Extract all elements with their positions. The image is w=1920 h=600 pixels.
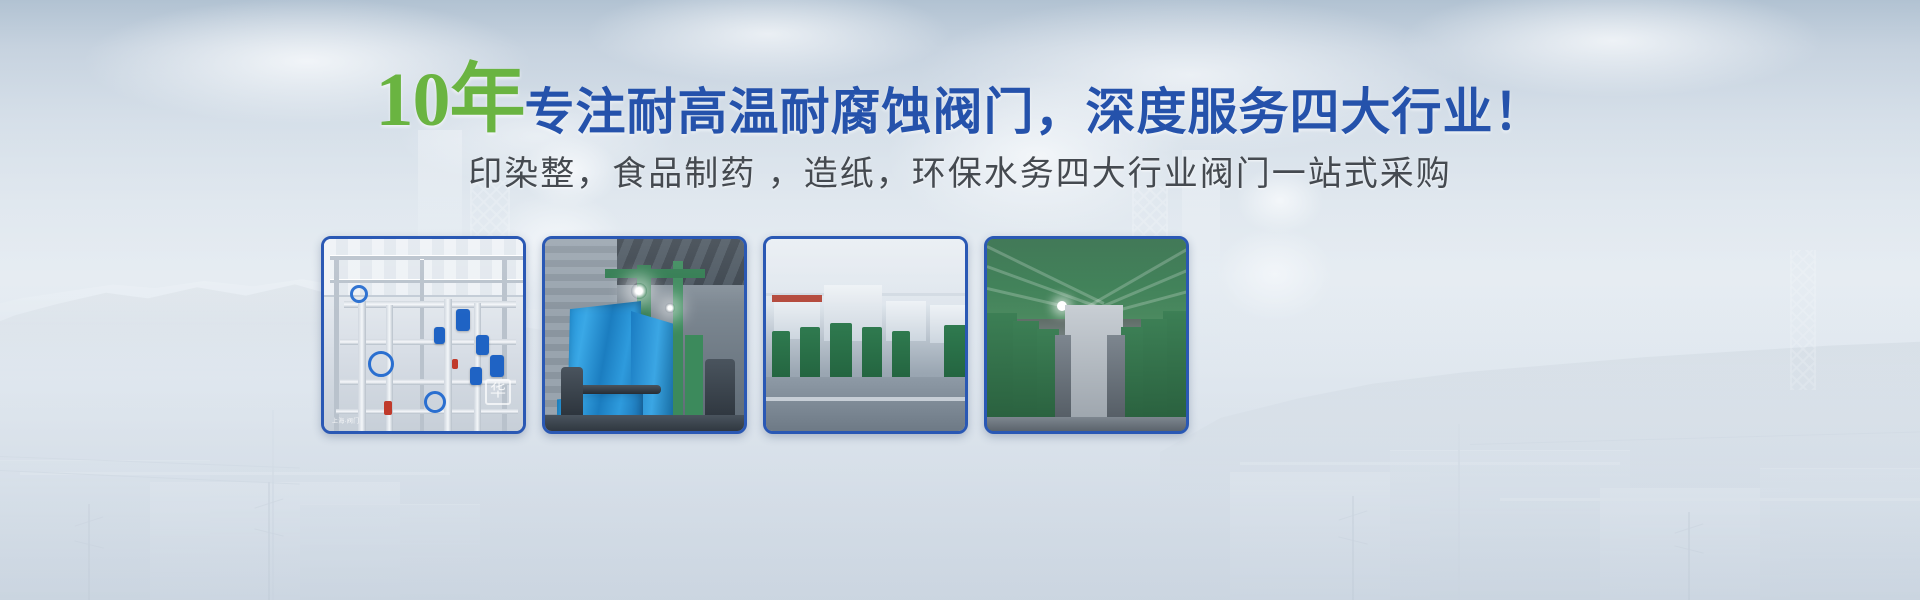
photo-watermark-text: 上海·阀门	[332, 416, 360, 425]
photo-strip: 华 上海·阀门	[321, 236, 1189, 434]
hero-banner: 10年专注耐高温耐腐蚀阀门，深度服务四大行业！ 印染整，食品制药 ，造纸，环保水…	[0, 0, 1920, 600]
photo-thumbnail-textile[interactable]	[542, 236, 747, 434]
photo-thumbnail-pipework[interactable]: 华 上海·阀门	[321, 236, 526, 434]
photo-thumbnail-corridor[interactable]	[984, 236, 1189, 434]
headline-main-text: 专注耐高温耐腐蚀阀门，深度服务四大行业！	[525, 84, 1545, 140]
photo-thumbnail-plant[interactable]	[763, 236, 968, 434]
headline-years-number: 10	[376, 58, 450, 142]
photo-image-corridor	[987, 239, 1186, 431]
photo-watermark-stamp: 华	[485, 379, 511, 405]
photo-image-textile	[545, 239, 744, 431]
headline-years-unit: 年	[450, 58, 525, 142]
headline: 10年专注耐高温耐腐蚀阀门，深度服务四大行业！	[0, 62, 1920, 138]
subtitle: 印染整，食品制药 ，造纸，环保水务四大行业阀门一站式采购	[0, 146, 1920, 195]
photo-image-pipework: 华 上海·阀门	[324, 239, 523, 431]
photo-image-plant	[766, 239, 965, 431]
